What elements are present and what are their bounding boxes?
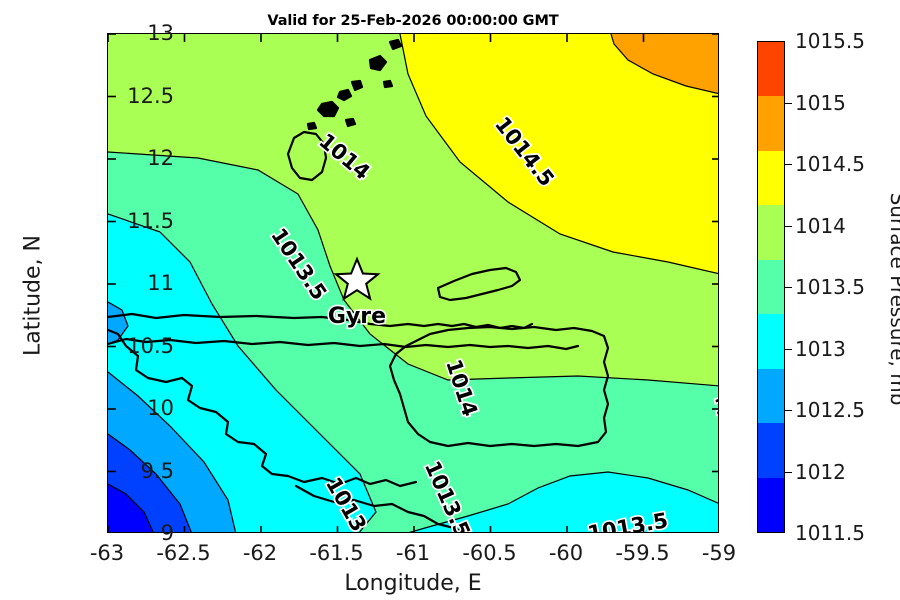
figure-root: Valid for 25-Feb-2026 00:00:00 GMT	[0, 0, 900, 600]
x-tick-label: -61.5	[309, 541, 363, 565]
colorbar-segment	[758, 151, 784, 205]
colorbar-tick-label: 1012	[795, 460, 846, 484]
colorbar-tick-label: 1013	[795, 337, 846, 361]
x-tick-label: -60	[549, 541, 583, 565]
colorbar-title: Surface Pressure, mb	[886, 149, 900, 449]
coastline-islet-4	[308, 123, 316, 129]
x-tick-label: -59.5	[615, 541, 669, 565]
colorbar-tick-label: 1011.5	[795, 521, 865, 545]
colorbar-tick-mark	[785, 349, 792, 350]
x-tick-label: -62.5	[156, 541, 210, 565]
x-tick-label: -59	[702, 541, 736, 565]
colorbar-tick-mark	[785, 410, 792, 411]
colorbar-segment	[758, 96, 784, 150]
colorbar-segment	[758, 260, 784, 314]
x-tick-label: -60.5	[462, 541, 516, 565]
coastline-islet-6	[390, 40, 401, 49]
colorbar-tick-mark	[785, 103, 792, 104]
y-tick-label: 12.5	[127, 84, 174, 108]
plot-title: Valid for 25-Feb-2026 00:00:00 GMT	[107, 13, 719, 29]
colorbar-segment	[758, 205, 784, 259]
coastline-carriacou	[318, 102, 338, 116]
colorbar-tick-label: 1014.5	[795, 152, 865, 176]
colorbar-segment	[758, 423, 784, 477]
y-tick-label: 13	[147, 21, 174, 45]
colorbar-segment	[758, 478, 784, 532]
colorbar-tick-label: 1012.5	[795, 398, 865, 422]
colorbar-tick-mark	[785, 287, 792, 288]
colorbar-tick-mark	[785, 226, 792, 227]
y-axis-label: Latitude, N	[21, 166, 46, 426]
colorbar-tick-label: 1014	[795, 214, 846, 238]
colorbar-tick-label: 1015.5	[795, 29, 865, 53]
colorbar-tick-mark	[785, 164, 792, 165]
coastline-islet-7	[384, 81, 392, 87]
y-tick-label: 11.5	[127, 209, 174, 233]
colorbar-tick-label: 1013.5	[795, 275, 865, 299]
y-tick-label: 10	[147, 396, 174, 420]
y-tick-label: 12	[147, 146, 174, 170]
colorbar[interactable]	[757, 41, 785, 533]
colorbar-segment	[758, 314, 784, 368]
colorbar-tick-label: 1015	[795, 91, 846, 115]
colorbar-tick-mark	[785, 472, 792, 473]
x-tick-label: -62	[243, 541, 277, 565]
gyre-label: Gyre	[328, 304, 386, 329]
coastline-islet-3	[346, 119, 355, 126]
y-tick-label: 9.5	[141, 459, 174, 483]
x-tick-label: -63	[90, 541, 124, 565]
y-tick-label: 10.5	[127, 334, 174, 358]
x-tick-label: -61	[396, 541, 430, 565]
contour-map-axes[interactable]: 10141014.510151013.51014101410131013.510…	[107, 33, 719, 533]
contour-map-svg: 10141014.510151013.51014101410131013.510…	[108, 34, 719, 533]
x-axis-label: Longitude, E	[107, 571, 719, 596]
colorbar-segment	[758, 369, 784, 423]
y-tick-label: 11	[147, 271, 174, 295]
coastline-islet-2	[352, 81, 362, 90]
colorbar-segment	[758, 42, 784, 96]
